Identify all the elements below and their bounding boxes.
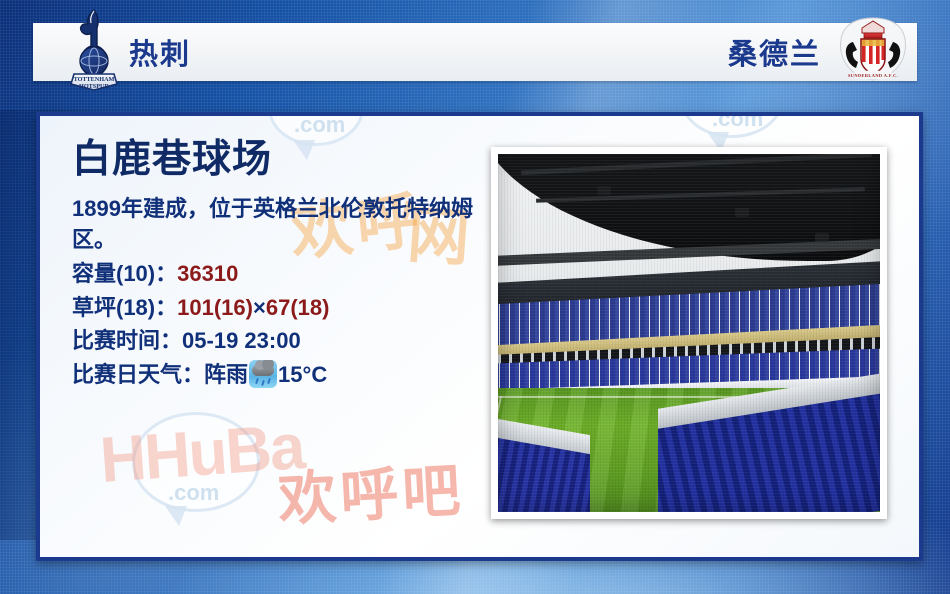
kickoff-row: 比赛时间：05-19 23:00	[72, 324, 502, 357]
capacity-row: 容量(10)：36310	[72, 257, 502, 290]
svg-text:SUNDERLAND A.F.C.: SUNDERLAND A.F.C.	[848, 73, 898, 78]
capacity-value: 36310	[177, 261, 238, 286]
stadium-title: 白鹿巷球场	[72, 140, 502, 181]
watermark-com-2: .com	[712, 112, 763, 132]
capacity-colon: ：	[155, 261, 177, 286]
stadium-text-column: 白鹿巷球场 1899年建成，位于英格兰北伦敦托特纳姆区。 容量(10)：3631…	[72, 140, 502, 391]
home-team-name: 热刺	[129, 31, 191, 73]
watermark-com-1: .com	[294, 112, 345, 138]
kickoff-value: 05-19 23:00	[182, 328, 301, 353]
pitch-multiply-symbol: ×	[253, 295, 266, 320]
watermark-com-3: .com	[168, 480, 219, 506]
pitch-colon: ：	[155, 295, 177, 320]
screenshot-root: 热刺 桑德兰 TOT	[0, 0, 950, 594]
pitch-length-value: 101(16)	[177, 295, 253, 320]
capacity-label: 容量(10)	[72, 261, 155, 286]
weather-condition: 阵雨	[204, 362, 248, 387]
watermark-brand-latin: HHuBa	[98, 409, 306, 497]
stadium-description: 1899年建成，位于英格兰北伦敦托特纳姆区。	[72, 193, 502, 255]
pitch-row: 草坪(18)：101(16)×67(18)	[72, 291, 502, 324]
pitch-label: 草坪(18)	[72, 295, 155, 320]
watermark-brand-cn-3: 欢呼吧	[276, 443, 466, 537]
away-team-name: 桑德兰	[728, 31, 821, 73]
watermark-bubble-3	[132, 412, 260, 512]
shower-rain-icon	[249, 360, 277, 388]
kickoff-label: 比赛时间	[72, 328, 160, 353]
stadium-photo	[498, 154, 880, 512]
svg-text:TOTTENHAM: TOTTENHAM	[74, 76, 115, 83]
sunderland-afc-crest-icon: SUNDERLAND A.F.C.	[836, 16, 910, 82]
pitch-width-value: 67(18)	[266, 295, 330, 320]
photo-vignette	[498, 154, 880, 512]
tottenham-hotspur-crest-icon: TOTTENHAM HOTSPUR	[68, 6, 120, 94]
weather-colon: ：	[182, 362, 204, 387]
kickoff-colon: ：	[160, 328, 182, 353]
stadium-info-panel: .com .com .com HHuBa 欢呼 网 欢呼吧 白鹿巷球场 1899…	[36, 112, 923, 561]
weather-label: 比赛日天气	[72, 362, 182, 387]
weather-temperature: 15°C	[278, 362, 327, 387]
stadium-photo-frame	[491, 147, 887, 519]
weather-row: 比赛日天气：阵雨15°C	[72, 358, 502, 391]
watermark-bubble-2	[680, 112, 784, 138]
match-header-bar: 热刺 桑德兰	[33, 23, 917, 81]
svg-text:HOTSPUR: HOTSPUR	[79, 83, 109, 90]
